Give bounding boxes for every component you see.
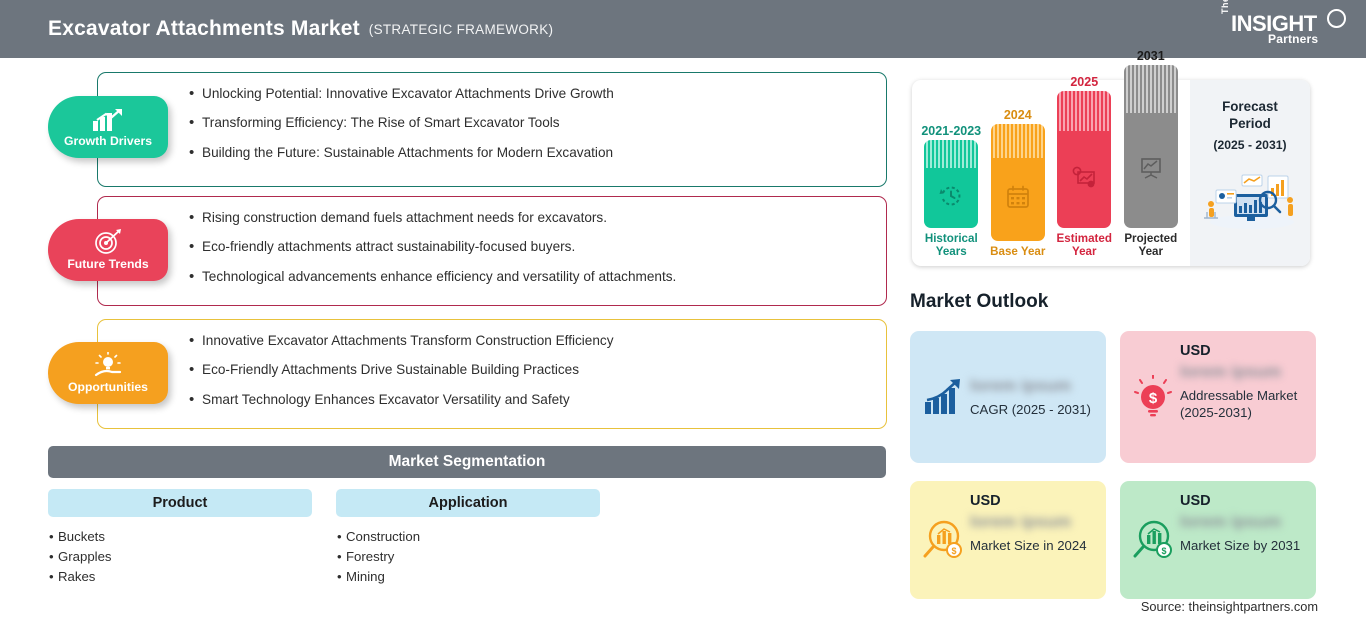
bar-chart-arrow-up-icon bbox=[91, 106, 125, 132]
list-item: Mining bbox=[346, 567, 600, 587]
bar-caption: Base Year bbox=[990, 245, 1045, 258]
list-item: Eco-friendly attachments attract sustain… bbox=[202, 239, 886, 255]
bar-shape bbox=[924, 140, 978, 228]
outlook-currency: USD bbox=[970, 493, 1096, 509]
bar-stripe-top bbox=[1057, 91, 1111, 131]
clock-rewind-icon bbox=[939, 184, 963, 213]
forecast-bar-base: 2024 bbox=[988, 108, 1048, 258]
outlook-card-market-size-2024[interactable]: $ USD lorem ipsum Market Size in 2024 bbox=[910, 481, 1106, 599]
lightbulb-in-hand-icon bbox=[92, 352, 124, 378]
bullet-list-growth-drivers: Unlocking Potential: Innovative Excavato… bbox=[98, 73, 886, 161]
outlook-caption: CAGR (2025 - 2031) bbox=[970, 401, 1096, 418]
market-segmentation-title: Market Segmentation bbox=[48, 446, 886, 478]
outlook-value-blurred: lorem ipsum bbox=[970, 512, 1096, 532]
logo-ring-icon bbox=[1327, 9, 1346, 28]
segmentation-list-application: Construction Forestry Mining bbox=[336, 527, 600, 587]
list-item: Construction bbox=[346, 527, 600, 547]
svg-text:$: $ bbox=[1161, 546, 1166, 556]
bar-shape bbox=[1057, 91, 1111, 228]
growth-bar-chart-icon bbox=[918, 378, 968, 416]
bar-year-label: 2031 bbox=[1137, 49, 1165, 63]
bullet-list-opportunities: Innovative Excavator Attachments Transfo… bbox=[98, 320, 886, 408]
outlook-card-text: USD lorem ipsum Market Size in 2024 bbox=[968, 493, 1096, 587]
list-item: Innovative Excavator Attachments Transfo… bbox=[202, 333, 886, 349]
list-item: Buckets bbox=[58, 527, 312, 547]
outlook-value-blurred: lorem ipsum bbox=[1180, 512, 1306, 532]
outlook-card-cagr[interactable]: lorem ipsum CAGR (2025 - 2031) bbox=[910, 331, 1106, 463]
bar-caption: Historical Years bbox=[921, 232, 981, 258]
bullet-list-future-trends: Rising construction demand fuels attachm… bbox=[98, 197, 886, 285]
forecast-bar-projected: 2031 Projected Year bbox=[1121, 49, 1181, 258]
target-dart-icon bbox=[93, 229, 123, 255]
list-item: Rising construction demand fuels attachm… bbox=[202, 210, 886, 226]
panel-future-trends: Rising construction demand fuels attachm… bbox=[97, 196, 887, 306]
list-item: Smart Technology Enhances Excavator Vers… bbox=[202, 392, 886, 408]
badge-label: Growth Drivers bbox=[64, 134, 152, 148]
list-item: Forestry bbox=[346, 547, 600, 567]
chart-gear-icon bbox=[1071, 165, 1097, 194]
list-item: Transforming Efficiency: The Rise of Sma… bbox=[202, 115, 886, 131]
forecast-bar-historical: 2021-2023 Historical Years bbox=[921, 124, 981, 258]
magnifier-chart-icon: $ bbox=[918, 493, 968, 587]
business-analytics-illustration bbox=[1198, 164, 1302, 235]
outlook-currency: USD bbox=[1180, 493, 1306, 509]
panel-growth-drivers: Unlocking Potential: Innovative Excavato… bbox=[97, 72, 887, 187]
outlook-card-text: lorem ipsum CAGR (2025 - 2031) bbox=[968, 376, 1096, 418]
bar-caption: Projected Year bbox=[1121, 232, 1181, 258]
forecast-timeline-card: 2021-2023 Historical Years bbox=[912, 80, 1310, 266]
forecast-period-range: (2025 - 2031) bbox=[1213, 138, 1286, 152]
bar-year-label: 2021-2023 bbox=[921, 124, 981, 138]
list-item: Unlocking Potential: Innovative Excavato… bbox=[202, 86, 886, 102]
list-item: Grapples bbox=[58, 547, 312, 567]
page-title: Excavator Attachments Market bbox=[48, 17, 360, 41]
insight-partners-logo: The INSIGHT Partners bbox=[1218, 8, 1348, 52]
badge-future-trends[interactable]: Future Trends bbox=[48, 219, 168, 281]
list-item: Technological advancements enhance effic… bbox=[202, 269, 886, 285]
bar-year-label: 2024 bbox=[1004, 108, 1032, 122]
badge-label: Future Trends bbox=[67, 257, 148, 271]
outlook-card-market-size-2031[interactable]: $ USD lorem ipsum Market Size by 2031 bbox=[1120, 481, 1316, 599]
outlook-value-blurred: lorem ipsum bbox=[1180, 362, 1306, 382]
segmentation-list-product: Buckets Grapples Rakes bbox=[48, 527, 312, 587]
outlook-currency: USD bbox=[1180, 343, 1306, 359]
forecast-bar-estimated: 2025 Estimated Ye bbox=[1054, 75, 1114, 258]
outlook-caption: Market Size in 2024 bbox=[970, 537, 1096, 554]
badge-growth-drivers[interactable]: Growth Drivers bbox=[48, 96, 168, 158]
outlook-card-addressable-market[interactable]: $ USD lorem ipsum Addressable Market (20… bbox=[1120, 331, 1316, 463]
svg-text:$: $ bbox=[1149, 390, 1158, 407]
panel-opportunities: Innovative Excavator Attachments Transfo… bbox=[97, 319, 887, 429]
segmentation-column-product: Product Buckets Grapples Rakes bbox=[48, 489, 312, 587]
forecast-period-line1: Forecast bbox=[1222, 98, 1278, 115]
bar-caption: Estimated Year bbox=[1054, 232, 1114, 258]
list-item: Eco-Friendly Attachments Drive Sustainab… bbox=[202, 362, 886, 378]
bar-shape bbox=[1124, 65, 1178, 228]
bar-stripe-top bbox=[991, 124, 1045, 158]
market-outlook-title: Market Outlook bbox=[910, 291, 1048, 313]
infographic-page: Excavator Attachments Market (STRATEGIC … bbox=[0, 0, 1366, 635]
page-subtitle: (STRATEGIC FRAMEWORK) bbox=[369, 22, 554, 37]
svg-text:$: $ bbox=[951, 546, 956, 556]
segmentation-column-application: Application Construction Forestry Mining bbox=[336, 489, 600, 587]
outlook-value-blurred: lorem ipsum bbox=[970, 376, 1096, 396]
bar-year-label: 2025 bbox=[1070, 75, 1098, 89]
segmentation-header: Product bbox=[48, 489, 312, 517]
outlook-caption: Addressable Market (2025-2031) bbox=[1180, 387, 1306, 421]
bar-stripe-top bbox=[924, 140, 978, 168]
outlook-card-text: USD lorem ipsum Market Size by 2031 bbox=[1178, 493, 1306, 587]
dollar-lightbulb-icon: $ bbox=[1128, 343, 1178, 451]
badge-label: Opportunities bbox=[68, 380, 148, 394]
list-item: Rakes bbox=[58, 567, 312, 587]
forecast-bars-group: 2021-2023 Historical Years bbox=[912, 80, 1190, 266]
list-item: Building the Future: Sustainable Attachm… bbox=[202, 145, 886, 161]
logo-partners-text: Partners bbox=[1268, 32, 1318, 46]
forecast-period-line2: Period bbox=[1229, 115, 1271, 132]
outlook-card-text: USD lorem ipsum Addressable Market (2025… bbox=[1178, 343, 1306, 451]
forecast-period-panel: Forecast Period (2025 - 2031) bbox=[1190, 80, 1310, 266]
presentation-screen-icon bbox=[1138, 156, 1164, 185]
segmentation-header: Application bbox=[336, 489, 600, 517]
calendar-icon bbox=[1006, 185, 1030, 214]
bar-solid-body bbox=[991, 158, 1045, 241]
magnifier-chart-icon: $ bbox=[1128, 493, 1178, 587]
source-attribution: Source: theinsightpartners.com bbox=[1141, 599, 1318, 614]
bar-solid-body bbox=[924, 168, 978, 228]
logo-the-text: The bbox=[1220, 0, 1230, 14]
bar-shape bbox=[991, 124, 1045, 241]
outlook-caption: Market Size by 2031 bbox=[1180, 537, 1306, 554]
bar-stripe-top bbox=[1124, 65, 1178, 113]
bar-solid-body bbox=[1124, 113, 1178, 228]
bar-solid-body bbox=[1057, 131, 1111, 228]
badge-opportunities[interactable]: Opportunities bbox=[48, 342, 168, 404]
